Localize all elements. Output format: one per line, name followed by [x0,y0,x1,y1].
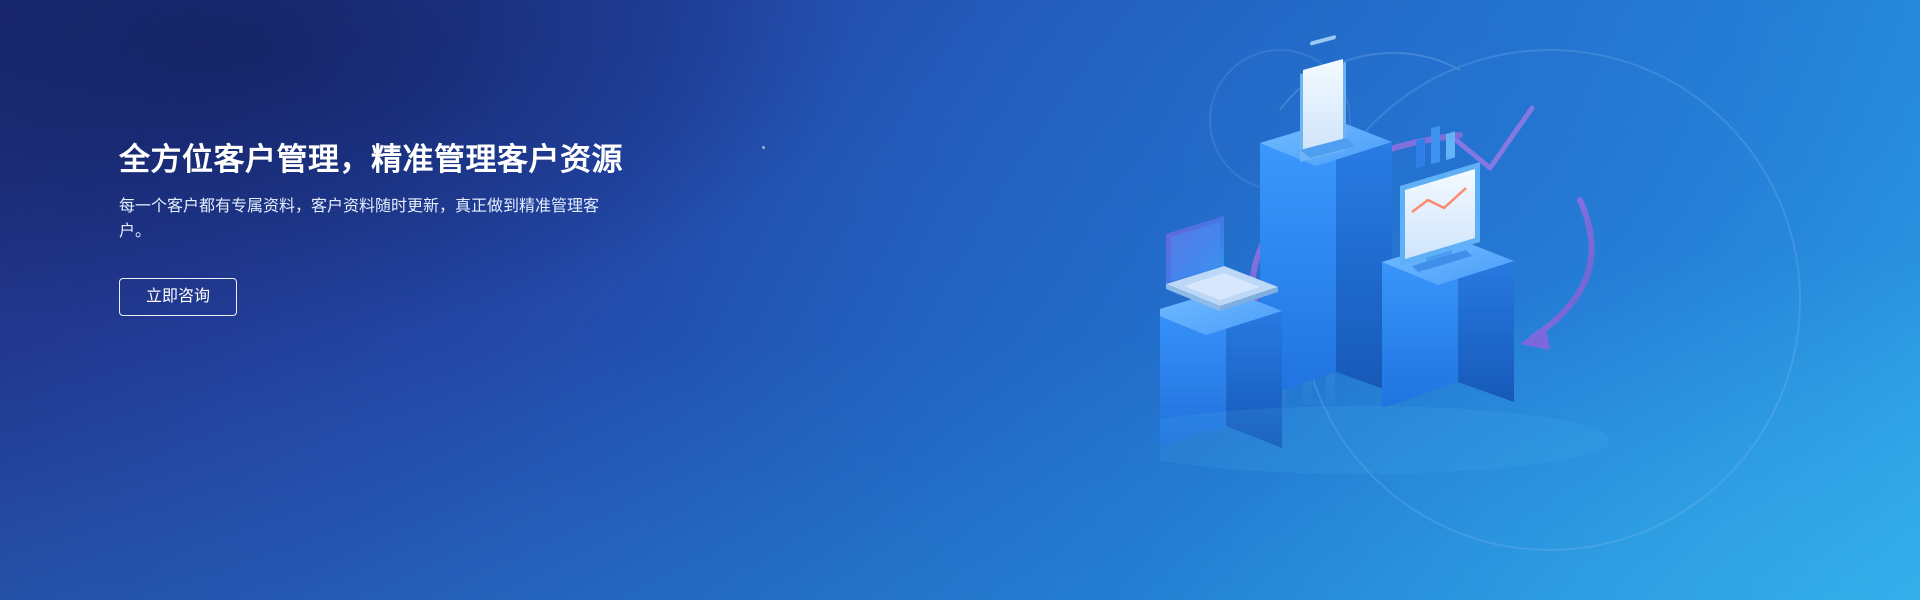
hero-copy: 全方位客户管理，精准管理客户资源 每一个客户都有专属资料，客户资料随时更新，真正… [119,140,679,316]
purple-curved-arrow-right [1456,108,1532,168]
hero-illustration [1160,0,1920,600]
purple-arrow-right-lower [1520,200,1592,350]
hero-banner: 全方位客户管理，精准管理客户资源 每一个客户都有专属资料，客户资料随时更新，真正… [0,0,1920,600]
hero-subtitle: 每一个客户都有专属资料，客户资料随时更新，真正做到精准管理客户。 [119,194,609,244]
page-title: 全方位客户管理，精准管理客户资源 [119,140,679,180]
sparkle-dot-icon [762,146,765,149]
consult-now-button[interactable]: 立即咨询 [119,278,237,316]
right-podium-with-bar-chart-screen [1382,126,1514,408]
